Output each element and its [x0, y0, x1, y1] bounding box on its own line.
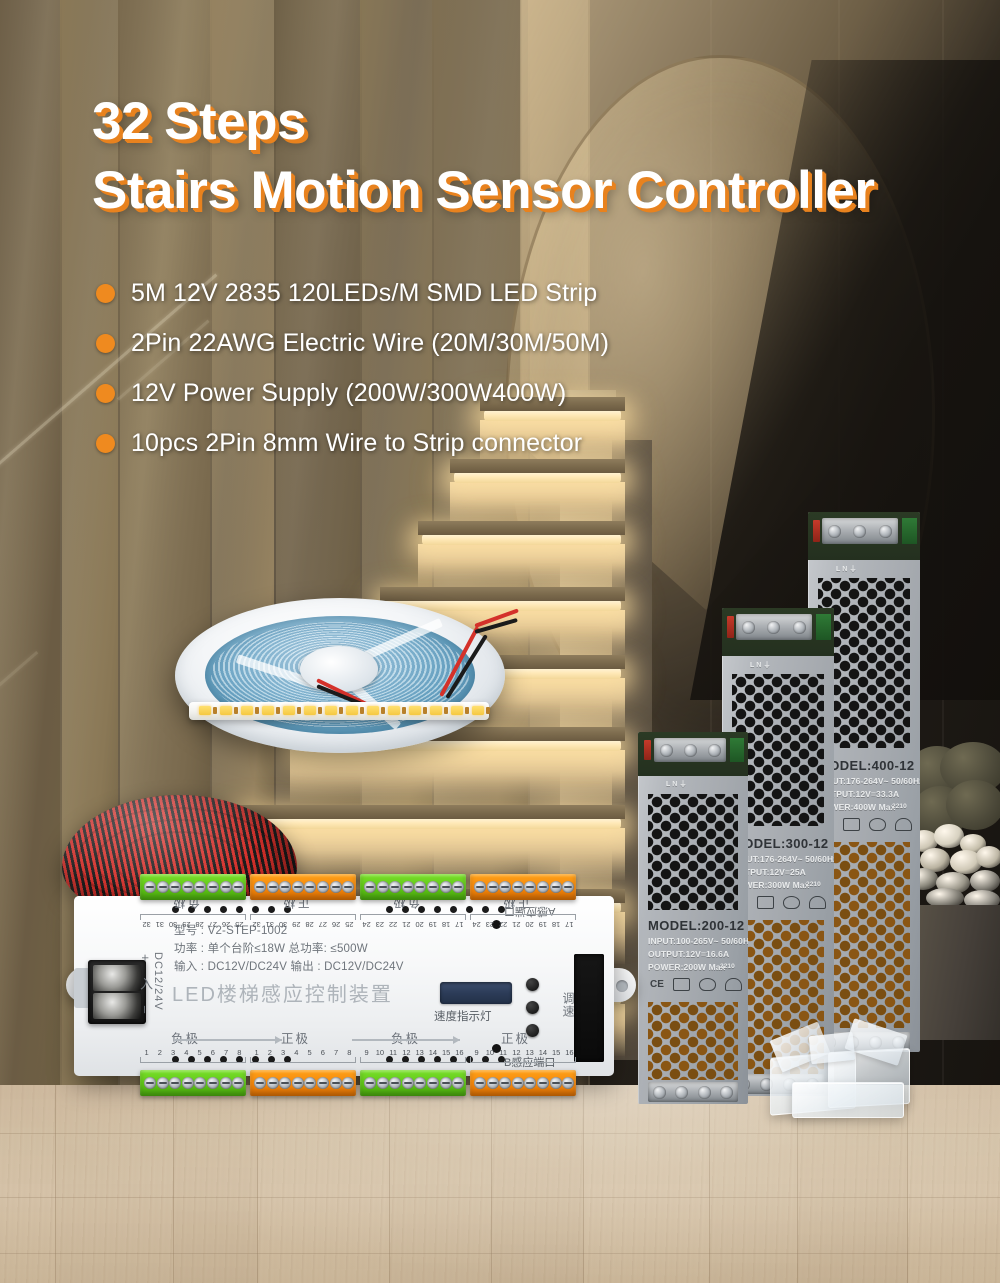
headline-line-1: 32 Steps: [92, 95, 875, 148]
terminal-number: 20: [525, 920, 533, 929]
terminal-number: 12: [402, 1048, 410, 1057]
solder-pad: [486, 707, 490, 714]
terminal-scale: 910111213141516: [470, 1048, 576, 1063]
terminal-number: 25: [235, 920, 243, 929]
terminal-screw[interactable]: [169, 881, 181, 893]
terminal-screw[interactable]: [524, 881, 536, 893]
pebble: [970, 870, 1000, 892]
smd-led: [199, 706, 211, 715]
terminal-number: 21: [512, 920, 520, 929]
solder-pad: [339, 707, 343, 714]
solder-pad: [234, 707, 238, 714]
terminal-number: 18: [552, 920, 560, 929]
controller-body: + 入 ‒ DC12/24V 型号 : V2-STEP-1002 功率 : 单个…: [74, 896, 614, 1076]
terminal-block-green[interactable]: [140, 874, 246, 900]
smd-led: [241, 706, 253, 715]
antenna-strip: [574, 954, 604, 1062]
terminal-screw[interactable]: [550, 1077, 562, 1089]
terminal-number: 6: [211, 1048, 215, 1057]
terminal-screw[interactable]: [414, 881, 426, 893]
psu-output-200: OUTPUT:12V=16.6A: [648, 949, 729, 959]
feature-item: 10pcs 2Pin 8mm Wire to Strip connector: [96, 418, 609, 468]
terminal-screw[interactable]: [194, 1077, 206, 1089]
feature-list: 5M 12V 2835 120LEDs/M SMD LED Strip2Pin …: [96, 268, 609, 468]
speed-indicator-light: [440, 982, 512, 1004]
decorative-stones: [906, 742, 1000, 917]
terminal-number: 24: [362, 920, 370, 929]
psu-batch-400: 2210: [892, 803, 907, 810]
terminal-number: 7: [224, 1048, 228, 1057]
feature-text: 5M 12V 2835 120LEDs/M SMD LED Strip: [131, 279, 597, 308]
terminal-number: 7: [334, 1048, 338, 1057]
terminal-screw[interactable]: [232, 1077, 244, 1089]
terminal-screw[interactable]: [182, 1077, 194, 1089]
terminal-screw[interactable]: [440, 1077, 452, 1089]
terminal-block-orange[interactable]: [250, 1070, 356, 1096]
terminal-number: 3: [281, 1048, 285, 1057]
terminal-screw[interactable]: [317, 881, 329, 893]
terminal-number: 20: [415, 920, 423, 929]
terminal-screw[interactable]: [537, 1077, 549, 1089]
terminal-number: 5: [308, 1048, 312, 1057]
terminal-block-orange[interactable]: [250, 874, 356, 900]
smd-led: [409, 706, 421, 715]
headline-line-2: Stairs Motion Sensor Controller: [92, 164, 875, 217]
psu-terminal-marks: L N ⏚: [836, 564, 857, 574]
polarity-label: 正极: [281, 1028, 310, 1047]
controller-power: 功率 : 单个台阶≤18W 总功率: ≤500W: [174, 940, 368, 956]
terminal-block-orange[interactable]: [470, 874, 576, 900]
terminal-number: 3: [171, 1048, 175, 1057]
terminal-scale: 2526272829303132: [250, 914, 356, 929]
psu-power-200: POWER:200W Max: [648, 962, 725, 972]
terminal-screw[interactable]: [144, 1077, 156, 1089]
terminal-screw[interactable]: [157, 881, 169, 893]
terminal-number: 14: [539, 1048, 547, 1057]
solder-pad: [444, 707, 448, 714]
feature-item: 5M 12V 2835 120LEDs/M SMD LED Strip: [96, 268, 609, 318]
wall-panel: [0, 0, 60, 1110]
terminal-screw[interactable]: [524, 1077, 536, 1089]
terminal-block-green[interactable]: [140, 1070, 246, 1096]
terminal-number: 28: [305, 920, 313, 929]
terminal-number: 10: [376, 1048, 384, 1057]
terminal-number: 27: [319, 920, 327, 929]
terminal-block-green[interactable]: [360, 1070, 466, 1096]
feature-item: 12V Power Supply (200W/300W400W): [96, 368, 609, 418]
terminal-screw[interactable]: [279, 1077, 291, 1089]
terminal-screw[interactable]: [402, 881, 414, 893]
solder-pad: [297, 707, 301, 714]
terminal-number: 10: [486, 1048, 494, 1057]
terminal-number: 25: [345, 920, 353, 929]
terminal-scale: 2526272829303132: [140, 914, 246, 929]
terminal-screw[interactable]: [364, 1077, 376, 1089]
terminal-screw[interactable]: [537, 881, 549, 893]
terminal-screw[interactable]: [267, 881, 279, 893]
terminal-screw[interactable]: [330, 1077, 342, 1089]
terminal-screw[interactable]: [402, 1077, 414, 1089]
terminal-scale: 1718192021222324: [360, 914, 466, 929]
terminal-scale: 12345678: [250, 1048, 356, 1063]
terminal-screw[interactable]: [267, 1077, 279, 1089]
terminal-number: 23: [376, 920, 384, 929]
terminal-screw[interactable]: [487, 1077, 499, 1089]
terminal-number: 31: [266, 920, 274, 929]
smd-led: [220, 706, 232, 715]
terminal-number: 27: [209, 920, 217, 929]
terminal-screw[interactable]: [452, 881, 464, 893]
terminal-number: 5: [198, 1048, 202, 1057]
smd-led: [304, 706, 316, 715]
terminal-number: 8: [237, 1048, 241, 1057]
terminal-screw[interactable]: [440, 881, 452, 893]
terminal-screw[interactable]: [194, 881, 206, 893]
terminal-number: 9: [475, 1048, 479, 1057]
terminal-screw[interactable]: [232, 881, 244, 893]
terminal-block-orange[interactable]: [470, 1070, 576, 1096]
terminal-number: 23: [486, 920, 494, 929]
terminal-number: 17: [455, 920, 463, 929]
terminal-screw[interactable]: [304, 881, 316, 893]
terminal-number: 16: [565, 1048, 573, 1057]
solder-pad: [423, 707, 427, 714]
solder-pad: [255, 707, 259, 714]
terminal-number: 1: [145, 1048, 149, 1057]
bullet-dot: [96, 384, 115, 403]
terminal-screw[interactable]: [550, 881, 562, 893]
speed-indicator-label: 速度指示灯: [434, 1008, 492, 1024]
terminal-screw[interactable]: [389, 881, 401, 893]
terminal-screw[interactable]: [427, 881, 439, 893]
terminal-number: 19: [429, 920, 437, 929]
moss-ball: [946, 780, 1000, 830]
solder-pad: [465, 707, 469, 714]
led-strip-reel: [175, 598, 525, 798]
terminal-screw[interactable]: [292, 881, 304, 893]
terminal-block-green[interactable]: [360, 874, 466, 900]
terminal-screw[interactable]: [377, 881, 389, 893]
psu-model-200: MODEL:200-12: [648, 918, 745, 933]
terminal-screw[interactable]: [254, 1077, 266, 1089]
smd-led: [388, 706, 400, 715]
terminal-number: 19: [539, 920, 547, 929]
terminal-screw[interactable]: [364, 881, 376, 893]
product-banner: 32 Steps Stairs Motion Sensor Controller…: [0, 0, 1000, 1283]
terminal-screw[interactable]: [342, 881, 354, 893]
solder-pad: [402, 707, 406, 714]
terminal-number: 32: [142, 920, 150, 929]
terminal-screw[interactable]: [304, 1077, 316, 1089]
terminal-scale: 1718192021222324: [470, 914, 576, 929]
bullet-dot: [96, 284, 115, 303]
terminal-number: 11: [389, 1048, 397, 1057]
terminal-number: 24: [472, 920, 480, 929]
terminal-number: 15: [552, 1048, 560, 1057]
solder-pad: [213, 707, 217, 714]
terminal-number: 17: [565, 920, 573, 929]
dc-input-label: DC12/24V: [152, 952, 164, 1011]
smd-led: [367, 706, 379, 715]
power-supply-200w: L N ⏚ MODEL:200-12 INPUT:100-265V~ 50/60…: [638, 732, 748, 1104]
terminal-number: 2: [158, 1048, 162, 1057]
smd-led: [346, 706, 358, 715]
wire-to-strip-connectors: [770, 1020, 930, 1130]
terminal-scale: 910111213141516: [360, 1048, 466, 1063]
terminal-number: 6: [321, 1048, 325, 1057]
psu-input-200: INPUT:100-265V~ 50/60Hz: [648, 936, 748, 946]
terminal-number: 29: [292, 920, 300, 929]
terminal-number: 26: [332, 920, 340, 929]
terminal-screw[interactable]: [279, 881, 291, 893]
terminal-screw[interactable]: [144, 881, 156, 893]
bullet-dot: [96, 434, 115, 453]
terminal-screw[interactable]: [207, 1077, 219, 1089]
terminal-screw[interactable]: [389, 1077, 401, 1089]
terminal-screw[interactable]: [377, 1077, 389, 1089]
smd-led: [430, 706, 442, 715]
terminal-number: 26: [222, 920, 230, 929]
terminal-screw[interactable]: [562, 881, 574, 893]
smd-led: [283, 706, 295, 715]
terminal-number: 29: [182, 920, 190, 929]
psu-batch-300: 2210: [806, 881, 821, 888]
polarity-label: 正极: [501, 1028, 530, 1047]
terminal-number: 21: [402, 920, 410, 929]
ce-mark-200: CE: [650, 979, 664, 990]
terminal-screw[interactable]: [562, 1077, 574, 1089]
terminal-screw[interactable]: [330, 881, 342, 893]
terminal-number: 18: [442, 920, 450, 929]
terminal-screw[interactable]: [254, 881, 266, 893]
terminal-number: 28: [195, 920, 203, 929]
terminal-number: 4: [294, 1048, 298, 1057]
terminal-number: 1: [255, 1048, 259, 1057]
terminal-screw[interactable]: [182, 881, 194, 893]
direction-arrow: [174, 1036, 282, 1044]
headline-block: 32 Steps Stairs Motion Sensor Controller: [92, 95, 875, 217]
terminal-number: 31: [156, 920, 164, 929]
terminal-screw[interactable]: [342, 1077, 354, 1089]
terminal-number: 22: [389, 920, 397, 929]
psu-terminal-marks: L N ⏚: [666, 779, 687, 789]
stairs-controller: + 入 ‒ DC12/24V 型号 : V2-STEP-1002 功率 : 单个…: [66, 868, 636, 1100]
terminal-screw[interactable]: [220, 1077, 232, 1089]
feature-text: 10pcs 2Pin 8mm Wire to Strip connector: [131, 429, 582, 458]
terminal-number: 32: [252, 920, 260, 929]
terminal-number: 16: [455, 1048, 463, 1057]
controller-io: 输入 : DC12V/DC24V 输出 : DC12V/DC24V: [174, 958, 404, 974]
solder-pad: [381, 707, 385, 714]
terminal-screw[interactable]: [414, 1077, 426, 1089]
terminal-screw[interactable]: [157, 1077, 169, 1089]
terminal-number: 4: [184, 1048, 188, 1057]
terminal-screw[interactable]: [427, 1077, 439, 1089]
bullet-dot: [96, 334, 115, 353]
terminal-screw[interactable]: [512, 881, 524, 893]
terminal-screw[interactable]: [220, 881, 232, 893]
terminal-screw[interactable]: [169, 1077, 181, 1089]
terminal-screw[interactable]: [512, 1077, 524, 1089]
solder-pad: [360, 707, 364, 714]
psu-terminal-marks: L N ⏚: [750, 660, 771, 670]
terminal-number: 11: [499, 1048, 507, 1057]
psu-batch-200: 2210: [720, 963, 735, 970]
terminal-number: 22: [499, 920, 507, 929]
terminal-number: 14: [429, 1048, 437, 1057]
controller-brand: LED楼梯感应控制装置: [172, 978, 393, 1007]
solder-pad: [276, 707, 280, 714]
terminal-number: 13: [525, 1048, 533, 1057]
terminal-screw[interactable]: [317, 1077, 329, 1089]
terminal-number: 13: [415, 1048, 423, 1057]
terminal-number: 30: [279, 920, 287, 929]
terminal-screw[interactable]: [499, 1077, 511, 1089]
terminal-screw[interactable]: [487, 881, 499, 893]
terminal-screw[interactable]: [474, 881, 486, 893]
terminal-number: 8: [347, 1048, 351, 1057]
smd-led: [325, 706, 337, 715]
terminal-number: 2: [268, 1048, 272, 1057]
terminal-number: 9: [365, 1048, 369, 1057]
pebble: [976, 846, 1000, 868]
smd-led: [472, 706, 484, 715]
smd-led: [451, 706, 463, 715]
solder-pad: [318, 707, 322, 714]
terminal-number: 15: [442, 1048, 450, 1057]
feature-text: 2Pin 22AWG Electric Wire (20M/30M/50M): [131, 329, 609, 358]
feature-item: 2Pin 22AWG Electric Wire (20M/30M/50M): [96, 318, 609, 368]
terminal-screw[interactable]: [499, 881, 511, 893]
direction-arrow: [352, 1036, 460, 1044]
terminal-number: 30: [169, 920, 177, 929]
smd-led: [262, 706, 274, 715]
terminal-scale: 12345678: [140, 1048, 246, 1063]
terminal-screw[interactable]: [292, 1077, 304, 1089]
terminal-screw[interactable]: [207, 881, 219, 893]
feature-text: 12V Power Supply (200W/300W400W): [131, 379, 566, 408]
terminal-screw[interactable]: [474, 1077, 486, 1089]
terminal-number: 12: [512, 1048, 520, 1057]
terminal-screw[interactable]: [452, 1077, 464, 1089]
